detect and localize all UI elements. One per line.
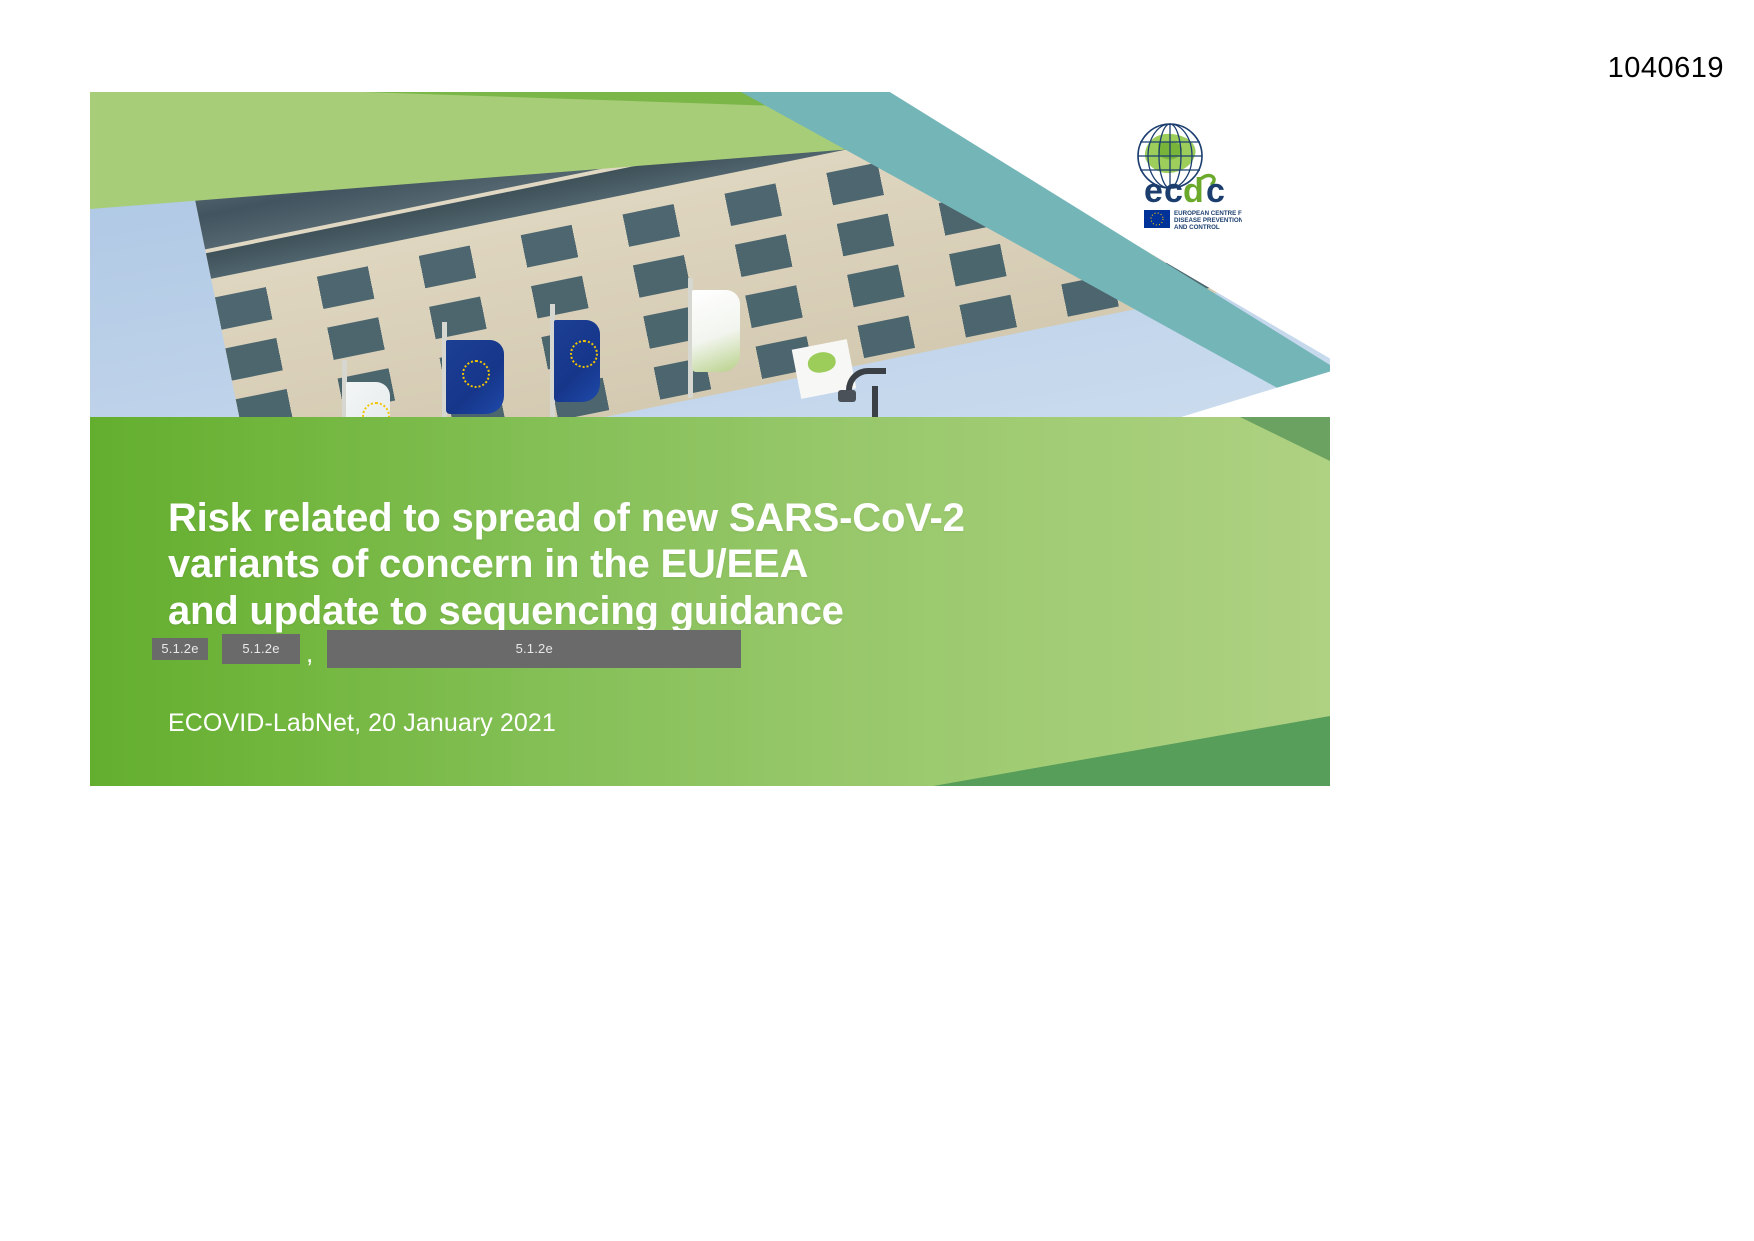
flag-stars — [362, 402, 390, 417]
flag-cloth — [446, 340, 504, 414]
flag-cloth — [554, 320, 600, 402]
flagpole-with-flag — [342, 360, 347, 417]
redaction-separator: , — [306, 638, 313, 669]
page-number: 1040619 — [1608, 52, 1724, 85]
title-block: Risk related to spread of new SARS-CoV-2… — [90, 417, 1330, 786]
flag-stars — [570, 340, 598, 368]
redaction-row: 5.1.2e 5.1.2e , 5.1.2e — [152, 628, 741, 669]
flagpole-with-flag — [550, 304, 555, 417]
subtitle-event-and-date: ECOVID-LabNet, 20 January 2021 — [168, 709, 556, 738]
title-block-corner-accent — [1240, 417, 1330, 461]
title-block-bottom-wedge — [933, 716, 1330, 786]
slide-canvas: e c d c EUROPEAN CENTRE FOR DISEASE PREV… — [90, 92, 1330, 786]
flag-cloth — [346, 382, 390, 417]
ecdc-wordmark: e c d c — [1144, 172, 1225, 210]
svg-text:AND CONTROL: AND CONTROL — [1174, 224, 1220, 231]
eu-flag-icon — [1144, 210, 1170, 228]
page-title: Risk related to spread of new SARS-CoV-2… — [168, 495, 1309, 634]
svg-text:e: e — [1144, 172, 1163, 210]
redaction-box-1: 5.1.2e — [152, 638, 208, 660]
flagpole-with-flag — [442, 322, 447, 417]
ecdc-logo: e c d c EUROPEAN CENTRE FOR DISEASE PREV… — [1114, 118, 1242, 238]
title-line-2: variants of concern in the EU/EEA — [168, 541, 1309, 587]
ecdc-logo-svg: e c d c EUROPEAN CENTRE FOR DISEASE PREV… — [1114, 118, 1242, 238]
street-lamp — [872, 386, 878, 417]
title-line-1: Risk related to spread of new SARS-CoV-2 — [168, 495, 1309, 541]
organisation-name: EUROPEAN CENTRE FOR DISEASE PREVENTION A… — [1174, 210, 1242, 231]
svg-text:EUROPEAN CENTRE FOR: EUROPEAN CENTRE FOR — [1174, 210, 1242, 217]
flag-stars — [462, 360, 490, 388]
svg-text:DISEASE PREVENTION: DISEASE PREVENTION — [1174, 217, 1242, 224]
svg-text:c: c — [1206, 172, 1225, 210]
redaction-box-3: 5.1.2e — [327, 630, 741, 668]
svg-text:c: c — [1164, 172, 1183, 210]
flagpole-with-flag — [688, 278, 693, 398]
flag-cloth — [692, 290, 740, 372]
header-photo: e c d c EUROPEAN CENTRE FOR DISEASE PREV… — [90, 92, 1330, 417]
redaction-box-2: 5.1.2e — [222, 634, 300, 664]
